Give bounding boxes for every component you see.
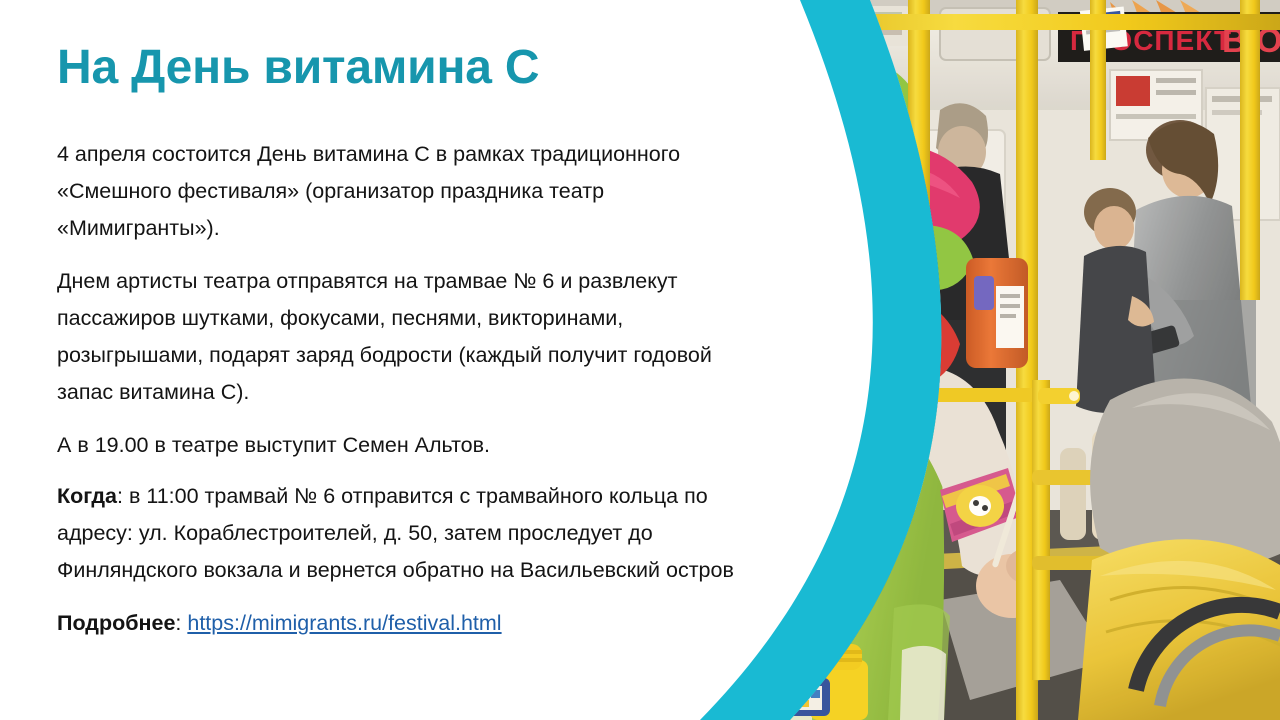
body-copy: 4 апреля состоится День витамина С в рам… — [57, 136, 769, 658]
more-label: Подробнее — [57, 611, 175, 635]
when-text: : в 11:00 трамвай № 6 отправится с трамв… — [57, 484, 734, 582]
slide-root: ПРОСПЕКТ В.О. — [0, 0, 1280, 720]
paragraph-more: Подробнее: https://mimigrants.ru/festiva… — [57, 605, 769, 642]
paragraph-daytime: Днем артисты театра отправятся на трамва… — [57, 263, 769, 411]
more-separator: : — [175, 611, 187, 635]
paragraph-intro: 4 апреля состоится День витамина С в рам… — [57, 136, 769, 247]
when-label: Когда — [57, 484, 117, 508]
page-title: На День витамина С — [57, 42, 539, 95]
paragraph-when: Когда: в 11:00 трамвай № 6 отправится с … — [57, 478, 769, 589]
text-column: На День витамина С 4 апреля состоится Де… — [0, 0, 720, 720]
paragraph-evening: А в 19.00 в театре выступит Семен Альтов… — [57, 427, 769, 464]
festival-link[interactable]: https://mimigrants.ru/festival.html — [187, 611, 501, 635]
